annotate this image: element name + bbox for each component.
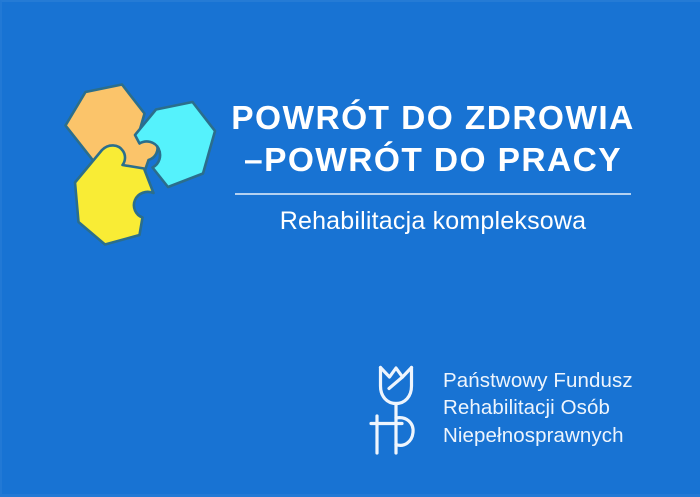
headline-line-2: –POWRÓT DO PRACY: [228, 140, 638, 182]
pfron-wordmark: Państwowy Fundusz Rehabilitacji Osób Nie…: [443, 367, 633, 450]
poster-canvas: POWRÓT DO ZDROWIA –POWRÓT DO PRACY Rehab…: [0, 0, 700, 497]
pfron-line-3: Niepełnosprawnych: [443, 422, 633, 450]
pfron-line-1: Państwowy Fundusz: [443, 367, 633, 395]
tulip-icon: [368, 358, 426, 458]
headline-block: POWRÓT DO ZDROWIA –POWRÓT DO PRACY Rehab…: [228, 98, 638, 236]
headline-line-1: POWRÓT DO ZDROWIA: [228, 98, 638, 140]
headline-subtitle: Rehabilitacja kompleksowa: [228, 207, 638, 236]
pfron-line-2: Rehabilitacji Osób: [443, 394, 633, 422]
pfron-logo: Państwowy Fundusz Rehabilitacji Osób Nie…: [368, 358, 633, 458]
puzzle-logo: [40, 62, 225, 247]
headline-divider: [235, 193, 631, 195]
